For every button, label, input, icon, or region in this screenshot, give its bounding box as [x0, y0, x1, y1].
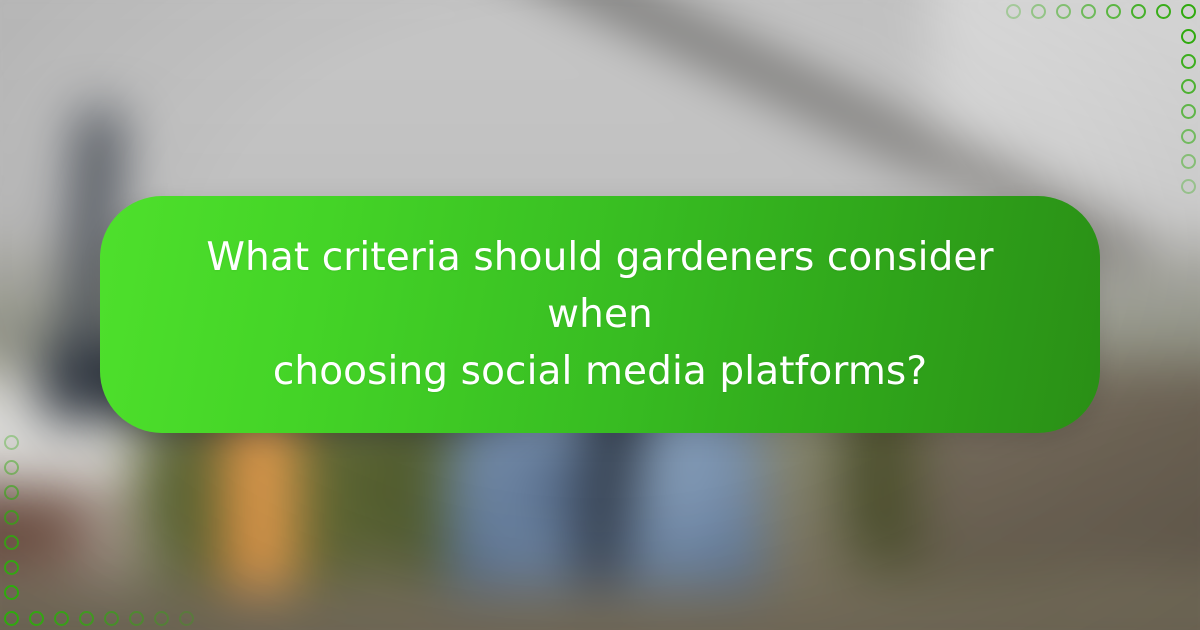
decorative-circle-icon — [1181, 154, 1196, 169]
decorative-circle-icon — [1181, 29, 1196, 44]
decorative-circle-icon — [1181, 54, 1196, 69]
social-card-canvas: What criteria should gardeners consider … — [0, 0, 1200, 630]
decorative-circle-icon — [29, 611, 44, 626]
decorative-circle-icon — [79, 611, 94, 626]
decorative-circle-icon — [4, 585, 19, 600]
decorative-circle-icon — [4, 510, 19, 525]
decorative-circle-icon — [4, 435, 19, 450]
decorative-circle-icon — [4, 460, 19, 475]
decorative-circle-icon — [4, 611, 19, 626]
decorative-circle-icon — [1106, 4, 1121, 19]
decorative-circle-icon — [1006, 4, 1021, 19]
decorative-circle-icon — [104, 611, 119, 626]
decorative-circle-icon — [4, 535, 19, 550]
decorative-circle-icon — [1181, 79, 1196, 94]
decorative-circle-icon — [4, 485, 19, 500]
decorative-circle-icon — [1131, 4, 1146, 19]
decorative-circle-icon — [1181, 129, 1196, 144]
decorative-circle-icon — [1181, 179, 1196, 194]
decorative-circle-icon — [1081, 4, 1096, 19]
decorative-circle-icon — [54, 611, 69, 626]
decorative-circle-icon — [1056, 4, 1071, 19]
question-text: What criteria should gardeners consider … — [185, 229, 1015, 400]
decorative-circle-icon — [1156, 4, 1171, 19]
decorative-circle-icon — [1181, 104, 1196, 119]
decorative-circle-icon — [129, 611, 144, 626]
decorative-circle-icon — [179, 611, 194, 626]
decorative-circle-icon — [154, 611, 169, 626]
decorative-circle-icon — [1031, 4, 1046, 19]
decorative-circle-icon — [1181, 4, 1196, 19]
question-card: What criteria should gardeners consider … — [100, 196, 1100, 433]
decorative-circle-icon — [4, 560, 19, 575]
